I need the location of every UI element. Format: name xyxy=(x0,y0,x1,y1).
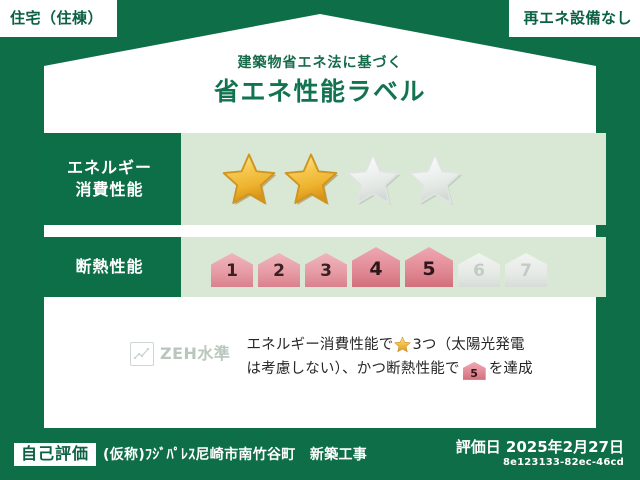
insulation-performance-label: 断熱性能 xyxy=(75,256,143,278)
inline-grade-badge: 5 xyxy=(463,362,486,380)
insulation-grade-3: 3 xyxy=(305,253,347,287)
zeh-standard-mark: ZEH水準 xyxy=(130,342,230,366)
description-line2-after: を達成 xyxy=(489,361,533,377)
project-name: (仮称)ﾌｼﾞﾊﾟﾚｽ尼崎市南竹谷町 新築工事 xyxy=(103,444,367,464)
description-line2-before: は考慮しない）、かつ断熱性能で xyxy=(246,361,459,377)
description-block: ZEH水準 エネルギー消費性能で3つ（太陽光発電 は考慮しない）、かつ断熱性能で… xyxy=(130,334,533,382)
grade-number: 3 xyxy=(320,263,332,287)
insulation-grade-1: 1 xyxy=(211,253,253,287)
inline-grade-number: 5 xyxy=(463,362,486,386)
description-text: エネルギー消費性能で3つ（太陽光発電 は考慮しない）、かつ断熱性能で5を達成 xyxy=(246,334,532,382)
insulation-performance-row: 断熱性能 1234567 xyxy=(38,237,606,297)
energy-performance-label-block: エネルギー 消費性能 xyxy=(38,133,181,225)
insulation-grade-2: 2 xyxy=(258,253,300,287)
insulation-grade-5: 5 xyxy=(405,247,453,287)
star-rating xyxy=(221,151,463,207)
energy-performance-row: エネルギー 消費性能 xyxy=(38,133,606,225)
insulation-grade-4: 4 xyxy=(352,247,400,287)
footer-right-block: 評価日 2025年2月27日 8e123133-82ec-46cd xyxy=(456,439,624,469)
star-icon-empty xyxy=(407,151,463,207)
insulation-grade-scale: 1234567 xyxy=(211,247,547,287)
zeh-standard-label: ZEH水準 xyxy=(160,346,230,362)
grade-number: 7 xyxy=(520,263,532,287)
evaluation-id: 8e123133-82ec-46cd xyxy=(456,456,624,469)
energy-performance-label-line1: エネルギー xyxy=(67,157,152,179)
grade-number: 2 xyxy=(273,263,285,287)
star-icon-filled xyxy=(283,151,339,207)
page-title: 建築物省エネ法に基づく 省エネ性能ラベル xyxy=(0,56,640,104)
description-line-2: は考慮しない）、かつ断熱性能で5を達成 xyxy=(246,358,532,382)
self-evaluation-badge: 自己評価 xyxy=(14,443,96,466)
footer-bar: 自己評価 (仮称)ﾌｼﾞﾊﾟﾚｽ尼崎市南竹谷町 新築工事 評価日 2025年2月… xyxy=(0,428,640,480)
title-main: 省エネ性能ラベル xyxy=(0,79,640,104)
renewable-energy-tag-label: 再エネ設備なし xyxy=(523,11,632,26)
energy-performance-value xyxy=(181,133,606,225)
grade-number: 1 xyxy=(226,263,238,287)
grade-number: 4 xyxy=(369,260,382,287)
renewable-energy-tag: 再エネ設備なし xyxy=(509,0,640,37)
energy-performance-label-line2: 消費性能 xyxy=(75,179,143,201)
title-subtitle: 建築物省エネ法に基づく xyxy=(0,56,640,70)
insulation-performance-label-block: 断熱性能 xyxy=(38,237,181,297)
insulation-grade-7: 7 xyxy=(505,253,547,287)
building-type-tag-label: 住宅（住棟） xyxy=(10,11,103,26)
grade-number: 6 xyxy=(473,263,485,287)
insulation-performance-value: 1234567 xyxy=(181,237,606,297)
star-icon-empty xyxy=(345,151,401,207)
description-line1-before: エネルギー消費性能で xyxy=(246,337,393,353)
energy-performance-label: 住宅（住棟） 再エネ設備なし 建築物省エネ法に基づく 省エネ性能ラベル エネルギ… xyxy=(0,0,640,480)
zeh-chart-icon xyxy=(130,342,154,366)
star-icon xyxy=(394,336,411,353)
grade-number: 5 xyxy=(422,260,435,287)
description-line-1: エネルギー消費性能で3つ（太陽光発電 xyxy=(246,334,532,358)
evaluation-date: 評価日 2025年2月27日 xyxy=(456,439,624,456)
insulation-grade-6: 6 xyxy=(458,253,500,287)
building-type-tag: 住宅（住棟） xyxy=(0,0,117,37)
star-icon-filled xyxy=(221,151,277,207)
description-line1-after: 3つ（太陽光発電 xyxy=(412,337,524,353)
